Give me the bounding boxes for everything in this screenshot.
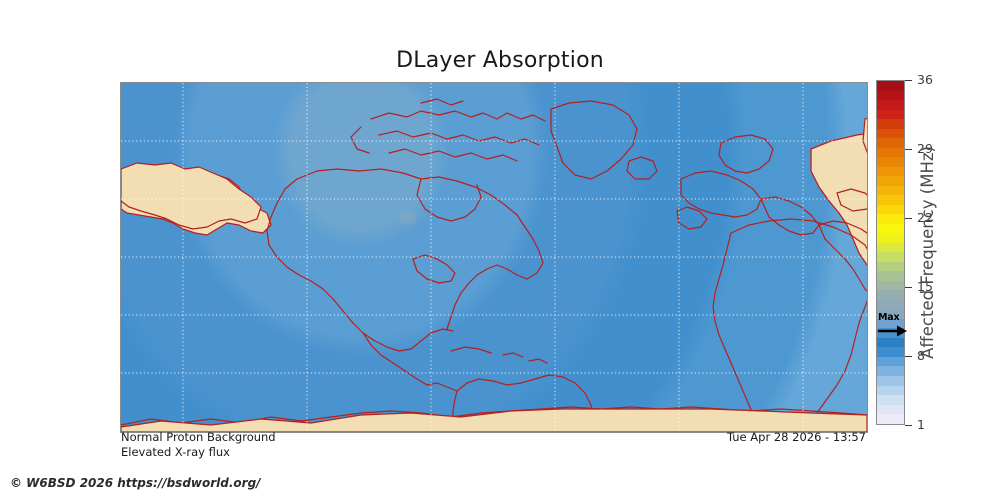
colorbar-band — [877, 176, 904, 186]
colorbar-band — [877, 300, 904, 310]
colorbar[interactable] — [876, 80, 905, 425]
colorbar-tick-mark — [905, 149, 912, 150]
colorbar-tick-mark — [905, 218, 912, 219]
colorbar-band — [877, 91, 904, 101]
colorbar-band — [877, 376, 904, 386]
colorbar-band — [877, 110, 904, 120]
colorbar-tick-mark — [905, 287, 912, 288]
colorbar-band — [877, 138, 904, 148]
colorbar-band — [877, 405, 904, 415]
colorbar-band — [877, 309, 904, 319]
colorbar-band — [877, 262, 904, 272]
colorbar-band — [877, 281, 904, 291]
colorbar-tick-mark — [905, 356, 912, 357]
colorbar-band — [877, 271, 904, 281]
colorbar-band — [877, 157, 904, 167]
colorbar-band — [877, 205, 904, 215]
colorbar-band — [877, 338, 904, 348]
colorbar-band — [877, 167, 904, 177]
colorbar-band — [877, 347, 904, 357]
map-panel[interactable] — [120, 82, 868, 433]
note-proton-background: Normal Proton Background — [121, 430, 276, 445]
status-notes: Normal Proton Background Elevated X-ray … — [121, 430, 276, 460]
colorbar-band — [877, 100, 904, 110]
colorbar-band — [877, 395, 904, 405]
colorbar-band — [877, 386, 904, 396]
map-gridlines — [121, 83, 867, 432]
colorbar-band — [877, 129, 904, 139]
note-xray-flux: Elevated X-ray flux — [121, 445, 276, 460]
colorbar-tick-mark — [905, 80, 912, 81]
colorbar-axis-label-text: Affected Frequency (MHz) — [918, 146, 937, 359]
colorbar-band — [877, 119, 904, 129]
colorbar-band — [877, 214, 904, 224]
colorbar-band — [877, 224, 904, 234]
colorbar-tick-mark — [905, 425, 912, 426]
colorbar-band — [877, 195, 904, 205]
footer-credit: © W6BSD 2026 https://bsdworld.org/ — [10, 476, 261, 490]
colorbar-band — [877, 81, 904, 91]
timestamp: Tue Apr 28 2026 - 13:57 — [566, 430, 866, 444]
colorbar-band — [877, 414, 904, 424]
colorbar-band — [877, 290, 904, 300]
colorbar-band — [877, 243, 904, 253]
colorbar-band — [877, 233, 904, 243]
colorbar-band — [877, 319, 904, 329]
colorbar-band — [877, 328, 904, 338]
page-title: DLayer Absorption — [0, 48, 1000, 73]
colorbar-band — [877, 186, 904, 196]
colorbar-band — [877, 357, 904, 367]
colorbar-band — [877, 148, 904, 158]
colorbar-band — [877, 366, 904, 376]
map-canvas — [121, 83, 867, 432]
colorbar-band — [877, 252, 904, 262]
colorbar-gradient — [876, 80, 905, 425]
colorbar-axis-label: Affected Frequency (MHz) — [916, 80, 938, 425]
